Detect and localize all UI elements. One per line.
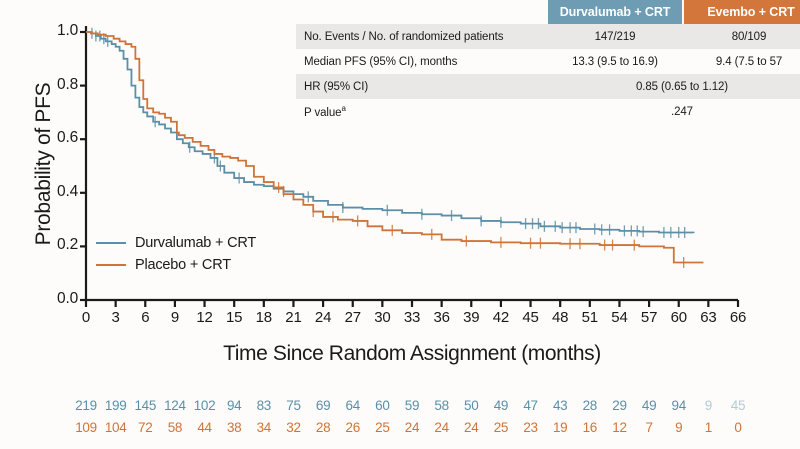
risk-row-durvalumab: 2191991451241029483756964605958504947432… — [0, 398, 800, 420]
x-tick-27: 27 — [338, 309, 368, 326]
y-tick-0-4: 0.4 — [34, 183, 78, 201]
y-tick-1-0: 1.0 — [34, 22, 78, 40]
x-tick-12: 12 — [190, 309, 220, 326]
km-chart-svg — [0, 0, 800, 449]
x-tick-3: 3 — [101, 309, 131, 326]
x-tick-6: 6 — [130, 309, 160, 326]
x-tick-15: 15 — [219, 309, 249, 326]
legend-swatch-placebo — [96, 264, 126, 266]
x-tick-0: 0 — [71, 309, 101, 326]
legend-item-durvalumab: Durvalumab + CRT — [96, 232, 256, 254]
censor-ticks-durvalumab — [92, 28, 685, 238]
x-tick-18: 18 — [249, 309, 279, 326]
x-tick-9: 9 — [160, 309, 190, 326]
x-tick-21: 21 — [278, 309, 308, 326]
risk-value: 45 — [721, 398, 755, 413]
legend-swatch-durvalumab — [96, 242, 126, 244]
risk-value: 0 — [721, 420, 755, 435]
chart-legend: Durvalumab + CRT Placebo + CRT — [96, 232, 256, 276]
km-plot: Probability of PFS Time Since Random Ass… — [0, 0, 800, 449]
x-tick-33: 33 — [397, 309, 427, 326]
y-tick-0-6: 0.6 — [34, 129, 78, 147]
legend-item-placebo: Placebo + CRT — [96, 254, 256, 276]
km-curve-placebo — [86, 32, 703, 262]
x-tick-42: 42 — [486, 309, 516, 326]
y-tick-0-8: 0.8 — [34, 76, 78, 94]
x-tick-45: 45 — [516, 309, 546, 326]
x-tick-51: 51 — [575, 309, 605, 326]
x-axis-title: Time Since Random Assignment (months) — [86, 342, 738, 366]
x-tick-57: 57 — [634, 309, 664, 326]
legend-label-placebo: Placebo + CRT — [135, 257, 231, 273]
x-tick-36: 36 — [427, 309, 457, 326]
x-tick-60: 60 — [664, 309, 694, 326]
x-tick-30: 30 — [367, 309, 397, 326]
y-tick-0-2: 0.2 — [34, 236, 78, 254]
y-tick-0-0: 0.0 — [34, 290, 78, 308]
x-tick-39: 39 — [456, 309, 486, 326]
x-tick-48: 48 — [545, 309, 575, 326]
x-tick-54: 54 — [604, 309, 634, 326]
y-axis-title: Probability of PFS — [32, 34, 56, 294]
risk-row-placebo: 1091047258443834322826252424242523191612… — [0, 420, 800, 442]
x-tick-24: 24 — [308, 309, 338, 326]
x-tick-63: 63 — [693, 309, 723, 326]
x-tick-66: 66 — [723, 309, 753, 326]
numbers-at-risk-table: 2191991451241029483756964605958504947432… — [0, 398, 800, 442]
legend-label-durvalumab: Durvalumab + CRT — [135, 235, 256, 251]
